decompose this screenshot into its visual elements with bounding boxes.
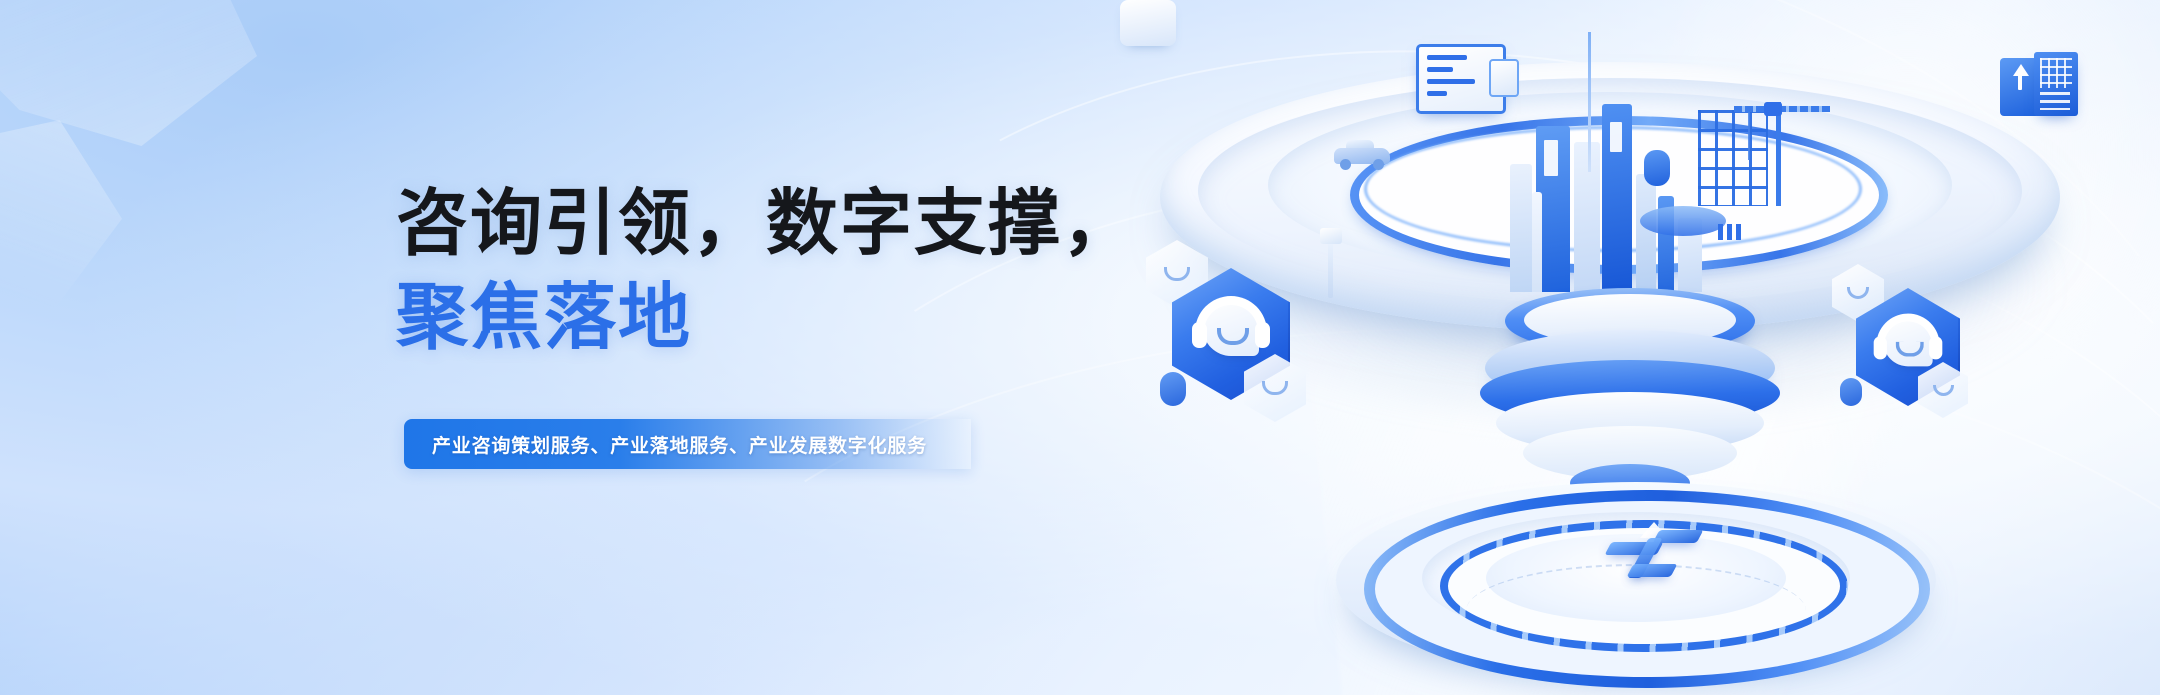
growth-building-icon — [2000, 52, 2086, 122]
background-facet-top-left — [0, 0, 290, 230]
disc-prop-bars — [1718, 224, 1744, 240]
street-lamp-icon — [1328, 236, 1333, 298]
base-ring-platform — [1336, 468, 1936, 688]
badge-accent-dot — [1840, 378, 1862, 406]
headline-line-1: 咨询引领，数字支撑， — [396, 178, 1156, 272]
headset-icon — [1193, 296, 1269, 372]
skyline-buildings — [1502, 2, 1792, 292]
service-badge-left — [1172, 268, 1290, 400]
tower-spire — [1588, 32, 1591, 172]
headline-line-2: 聚焦落地 — [396, 272, 1156, 366]
services-pill-label: 产业咨询策划服务、产业落地服务、产业发展数字化服务 — [432, 431, 927, 458]
disc-prop-cylinder — [1120, 0, 1176, 46]
dashboard-panel-icon — [1416, 44, 1506, 114]
disc-prop-capsule — [1644, 150, 1670, 186]
services-pill: 产业咨询策划服务、产业落地服务、产业发展数字化服务 — [404, 419, 971, 469]
vehicle-icon — [1334, 140, 1390, 170]
service-badge-right — [1856, 288, 1960, 406]
base-glass-glyph — [1604, 520, 1704, 582]
street-lamp-head — [1320, 228, 1342, 244]
hero-copy: 咨询引领，数字支撑， 聚焦落地 — [396, 178, 1156, 365]
illustration-scene — [1120, 0, 2160, 695]
crane-cab — [1764, 102, 1782, 116]
crane-mast — [1776, 102, 1781, 206]
badge-accent-dot — [1160, 372, 1186, 406]
page-title: 咨询引领，数字支撑， 聚焦落地 — [396, 178, 1156, 365]
hero-banner: 咨询引领，数字支撑， 聚焦落地 产业咨询策划服务、产业落地服务、产业发展数字化服… — [0, 0, 2160, 695]
disc-prop-ring — [1640, 206, 1726, 236]
construction-scaffold — [1698, 110, 1768, 206]
crane-hook — [1748, 112, 1750, 160]
background-facet-left — [0, 120, 200, 380]
